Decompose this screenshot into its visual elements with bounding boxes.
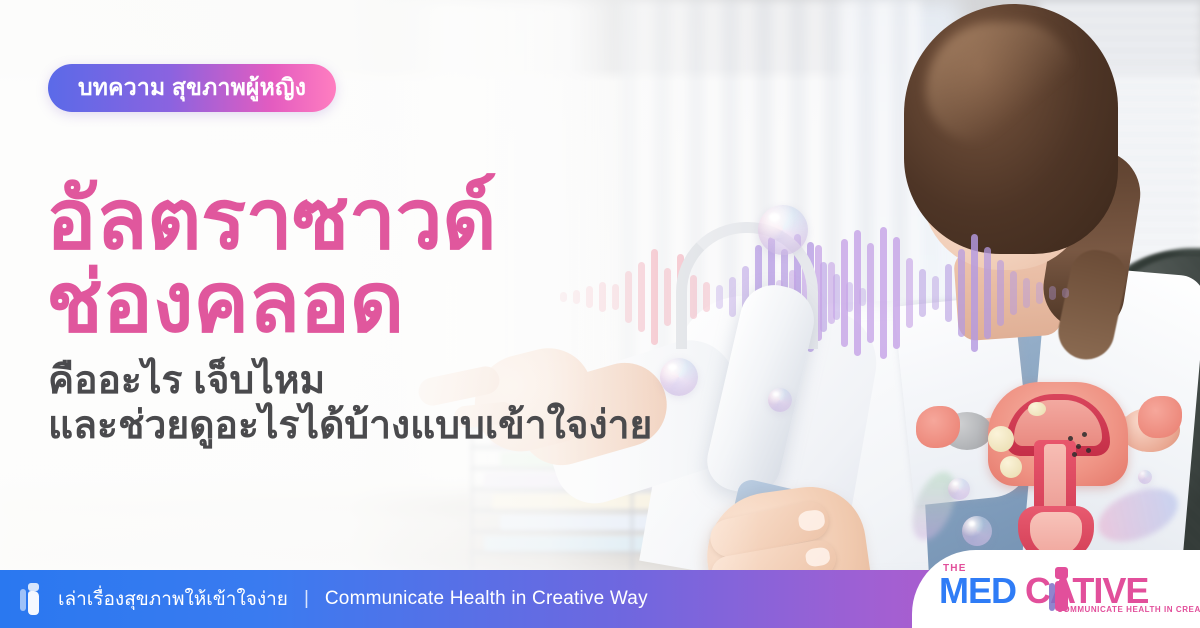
fimbriae-right — [1138, 396, 1182, 438]
brand-tagline: COMMUNICATE HEALTH IN CREATIVE WAY — [1057, 605, 1200, 614]
soap-bubble-icon — [948, 478, 970, 500]
mark-dot — [28, 583, 39, 591]
wave-bar — [854, 230, 861, 356]
wave-bar — [1010, 271, 1017, 315]
wave-bar — [919, 269, 926, 317]
mark-bar — [20, 589, 26, 611]
wave-bar — [958, 249, 965, 337]
lesion-dot — [1086, 448, 1091, 453]
soap-bubble-icon — [768, 388, 792, 412]
hair-highlight — [926, 22, 1076, 142]
lesion-dot — [1072, 452, 1077, 457]
page-subtitle-line-1: คืออะไร เจ็บไหม — [48, 358, 748, 403]
promo-banner: บทความ สุขภาพผู้หญิง อัลตราซาวด์ ช่องคลอ… — [0, 0, 1200, 628]
soap-bubble-icon — [758, 205, 808, 255]
brand-med: MED — [939, 570, 1016, 611]
wave-bar — [971, 234, 978, 352]
soap-bubble-icon — [962, 516, 992, 546]
page-subtitle: คืออะไร เจ็บไหม และช่วยดูอะไรได้บ้างแบบเ… — [48, 358, 748, 448]
brand-wordmark: MEDICATIVE — [939, 573, 1148, 609]
uterus-ovaries-illustration — [922, 378, 1192, 568]
wave-bar — [945, 264, 952, 322]
wave-bar — [984, 247, 991, 339]
wave-bar — [1036, 282, 1043, 304]
category-badge: บทความ สุขภาพผู้หญิง — [48, 64, 336, 112]
wave-bar — [893, 237, 900, 349]
wave-bar — [880, 227, 887, 359]
lesion-dot — [1068, 436, 1073, 441]
wave-bar — [997, 260, 1004, 326]
brand-logo-inner: THE MEDICATIVE COMMUNICATE HEALTH IN CRE… — [937, 565, 1175, 613]
page-title-line-1: อัลตราซาวด์ — [46, 178, 686, 260]
fibroid-nodule-2 — [1000, 456, 1022, 478]
footer-tagline-th: เล่าเรื่องสุขภาพให้เข้าใจง่าย — [58, 584, 288, 614]
wave-bar — [1062, 288, 1069, 298]
page-title: อัลตราซาวด์ ช่องคลอด — [46, 178, 686, 343]
wave-bar — [906, 258, 913, 328]
footer-tagline-en: Communicate Health in Creative Way — [325, 588, 648, 610]
wave-bar — [1049, 286, 1056, 300]
page-subtitle-line-2: และช่วยดูอะไรได้บ้างแบบเข้าใจง่าย — [48, 403, 748, 448]
wave-bar — [932, 276, 939, 310]
lesion-dot — [1076, 444, 1081, 449]
brand-logo[interactable]: THE MEDICATIVE COMMUNICATE HEALTH IN CRE… — [912, 550, 1200, 628]
wave-bar — [1023, 278, 1030, 308]
page-title-line-2: ช่องคลอด — [46, 261, 686, 343]
wave-bar — [867, 243, 874, 343]
fimbriae-left — [916, 406, 960, 448]
lesion-dot — [1082, 432, 1087, 437]
footer-separator: | — [304, 588, 309, 610]
mark-dot — [1055, 567, 1068, 579]
person-i-mark-icon — [18, 583, 44, 615]
mark-stem — [28, 591, 39, 615]
fibroid-nodule-1 — [988, 426, 1014, 452]
fibroid-nodule-3 — [1028, 402, 1046, 416]
category-badge-label: บทความ สุขภาพผู้หญิง — [78, 70, 306, 106]
soap-bubble-icon — [1138, 470, 1152, 484]
